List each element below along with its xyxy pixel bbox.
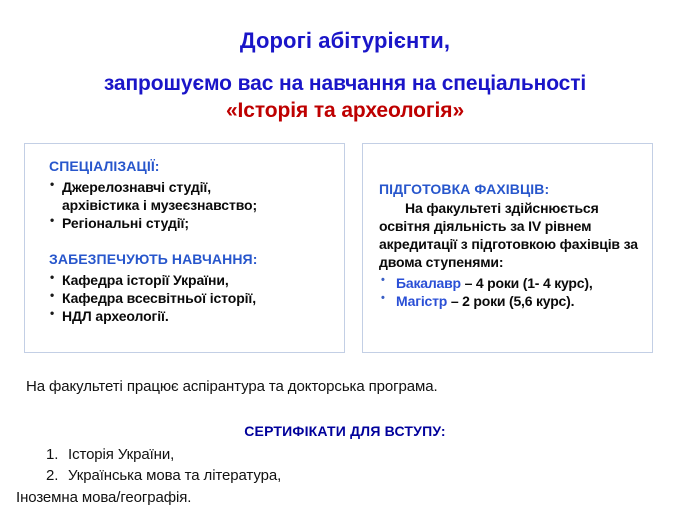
specializations-heading: СПЕЦІАЛІЗАЦІЇ: bbox=[49, 158, 334, 176]
training-paragraph: На факультеті здійснюється освітня діяль… bbox=[379, 199, 644, 271]
specialization-line-1: Джерелознавчі студії, bbox=[62, 179, 211, 195]
certificates-list: 1.Історія України, 2.Українська мова та … bbox=[0, 444, 690, 508]
specializations-panel: СПЕЦІАЛІЗАЦІЇ: Джерелознавчі студії, арх… bbox=[24, 143, 345, 353]
degree-detail: – 4 роки (1- 4 курс), bbox=[461, 275, 593, 291]
degree-name: Бакалавр bbox=[396, 275, 461, 291]
title-line-greeting: Дорогі абітурієнти, bbox=[0, 28, 690, 54]
item-number: 2. bbox=[46, 465, 68, 486]
training-panel: ПІДГОТОВКА ФАХІВЦІВ: На факультеті здійс… bbox=[362, 143, 653, 353]
item-number: 1. bbox=[46, 444, 68, 465]
list-item: Магістр – 2 роки (5,6 курс). bbox=[379, 292, 644, 311]
degree-name: Магістр bbox=[396, 293, 447, 309]
list-item: Джерелознавчі студії, архівістика і музе… bbox=[49, 178, 334, 214]
degree-detail: – 2 роки (5,6 курс). bbox=[447, 293, 574, 309]
list-item: 1.Історія України, bbox=[0, 444, 690, 465]
item-label: Історія України, bbox=[68, 446, 174, 463]
certificates-heading: СЕРТИФІКАТИ ДЛЯ ВСТУПУ: bbox=[0, 423, 690, 439]
training-heading: ПІДГОТОВКА ФАХІВЦІВ: bbox=[379, 181, 644, 199]
certificates-extra: Іноземна мова/географія. bbox=[0, 487, 690, 508]
list-item: 2.Українська мова та література, bbox=[0, 465, 690, 486]
page-title: Дорогі абітурієнти, запрошуємо вас на на… bbox=[0, 28, 690, 123]
list-item: Кафедра історії України, bbox=[49, 271, 334, 289]
providers-heading: ЗАБЕЗПЕЧУЮТЬ НАВЧАННЯ: bbox=[49, 251, 334, 269]
list-item: Регіональні студії; bbox=[49, 214, 334, 232]
item-label: Українська мова та література, bbox=[68, 467, 281, 484]
specializations-list: Джерелознавчі студії, архівістика і музе… bbox=[49, 178, 334, 233]
provider-label: Кафедра історії України, bbox=[62, 272, 229, 288]
specialization-line-1: Регіональні студії; bbox=[62, 215, 189, 231]
title-line-invitation: запрошуємо вас на навчання на спеціально… bbox=[0, 71, 690, 96]
postgraduate-note: На факультеті працює аспірантура та докт… bbox=[26, 378, 438, 395]
provider-label: Кафедра всесвітньої історії, bbox=[62, 290, 256, 306]
title-line-specialty: «Історія та археологія» bbox=[0, 98, 690, 123]
providers-list: Кафедра історії України, Кафедра всесвіт… bbox=[49, 271, 334, 326]
degrees-list: Бакалавр – 4 роки (1- 4 курс), Магістр –… bbox=[379, 274, 644, 311]
list-item: Бакалавр – 4 роки (1- 4 курс), bbox=[379, 274, 644, 293]
specialization-line-2: архівістика і музеєзнавство; bbox=[62, 196, 334, 214]
list-item: Кафедра всесвітньої історії, bbox=[49, 289, 334, 307]
provider-label: НДЛ археології. bbox=[62, 308, 169, 324]
slide-root: { "title": { "line1": "Дорогі абітурієнт… bbox=[0, 0, 690, 508]
list-item: НДЛ археології. bbox=[49, 307, 334, 325]
